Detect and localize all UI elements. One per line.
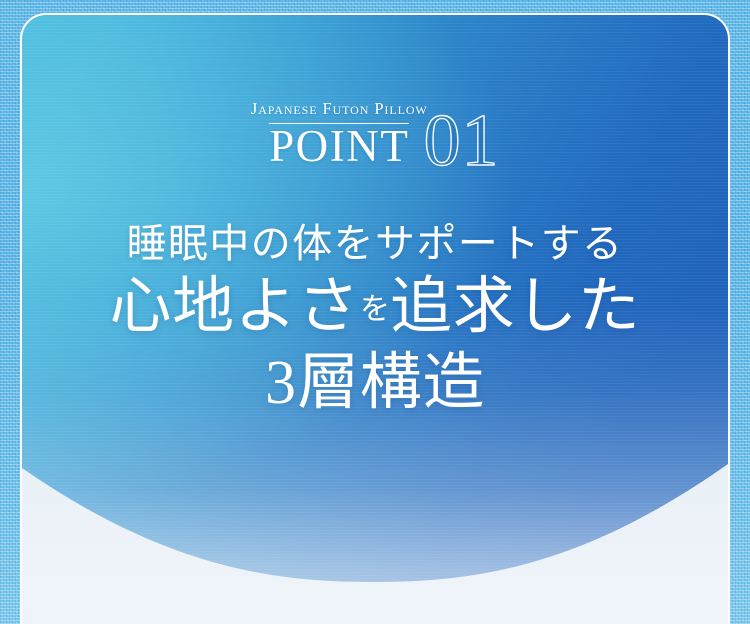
headline-line-2-part-c: 追求した [390,269,640,342]
banner-page: Japanese Futon Pillow POINT 01 睡眠中の体をサポー… [0,0,750,624]
headline-line-3: 3層構造 [22,344,728,422]
point-text-stack: Japanese Futon Pillow POINT [251,101,428,167]
headline-line-1: 睡眠中の体をサポートする [22,221,728,268]
headline-line-2-particle: を [360,292,390,327]
gradient-card: Japanese Futon Pillow POINT 01 睡眠中の体をサポー… [22,15,728,624]
point-word-label: POINT [269,123,409,167]
card-outline: Japanese Futon Pillow POINT 01 睡眠中の体をサポー… [20,13,730,624]
headline-line-2-part-a: 心地よさ [110,269,360,342]
headline-layer-count: 3 [265,349,297,417]
headline-line-3-text: 層構造 [297,345,485,418]
banner-content: Japanese Futon Pillow POINT 01 睡眠中の体をサポー… [22,15,728,624]
kicker-label: Japanese Futon Pillow [251,101,428,123]
headline-line-2: 心地よさを追求した [22,268,728,344]
point-number-label: 01 [424,112,499,171]
headline-block: 睡眠中の体をサポートする 心地よさを追求した 3層構造 [22,221,728,421]
point-lockup: Japanese Futon Pillow POINT 01 [22,101,728,167]
